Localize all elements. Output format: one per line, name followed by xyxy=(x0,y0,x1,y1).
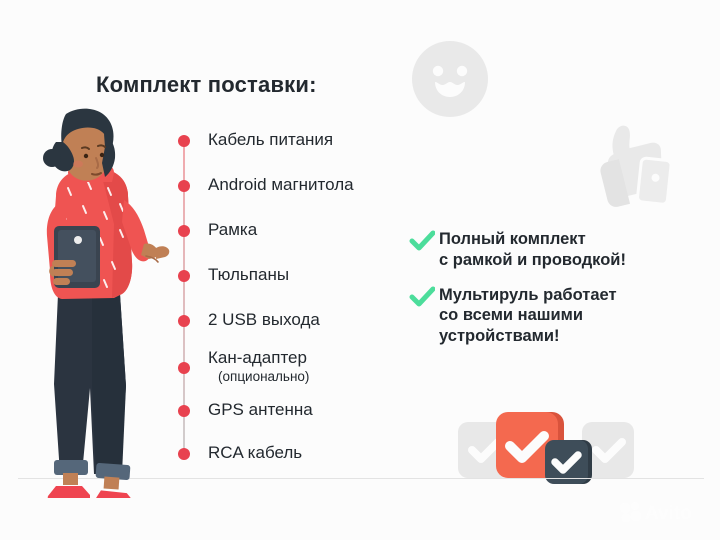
list-item-title: Кан-адаптер xyxy=(208,348,307,367)
list-item-label: Кабель питания xyxy=(208,130,333,150)
list-item-label: 2 USB выхода xyxy=(208,310,320,330)
list-item: 2 USB выхода xyxy=(178,310,320,330)
list-item: Кабель питания xyxy=(178,130,333,150)
list-item: Рамка xyxy=(178,220,257,240)
benefit-line-1: Мультируль работает xyxy=(439,286,617,304)
bullet-dot-icon xyxy=(178,405,190,417)
page-title: Комплект поставки: xyxy=(96,72,317,98)
bullet-dot-icon xyxy=(178,448,190,460)
benefit-item: Полный комплект с рамкой и проводкой! xyxy=(409,229,699,271)
woman-pointing-illustration xyxy=(8,108,178,498)
list-item-label: Кан-адаптер (опционально) xyxy=(208,348,309,384)
benefits-list: Полный комплект с рамкой и проводкой! Му… xyxy=(409,229,699,359)
bullet-dot-icon xyxy=(178,270,190,282)
smiley-face-icon xyxy=(409,38,491,120)
poster-canvas: Комплект поставки: Кабель питания Androi… xyxy=(0,0,720,540)
green-check-icon xyxy=(409,284,435,310)
list-item-label: Android магнитола xyxy=(208,175,354,195)
green-check-icon xyxy=(409,228,435,254)
avito-watermark: Avito xyxy=(617,498,709,524)
bullet-dot-icon xyxy=(178,315,190,327)
list-item-label: Тюльпаны xyxy=(208,265,289,285)
list-item: GPS антенна xyxy=(178,400,313,420)
list-item: Android магнитола xyxy=(178,175,354,195)
benefit-line-2: со всеми нашими xyxy=(439,306,583,324)
list-item-label: RCA кабель xyxy=(208,443,302,463)
avito-wordmark: Avito xyxy=(645,503,692,524)
benefit-item: Мультируль работает со всеми нашими устр… xyxy=(409,285,699,347)
bullet-dot-icon xyxy=(178,225,190,237)
list-item-label: Рамка xyxy=(208,220,257,240)
benefit-text: Мультируль работает со всеми нашими устр… xyxy=(439,285,617,347)
list-item: Кан-адаптер (опционально) xyxy=(178,348,309,384)
benefit-line-1: Полный комплект xyxy=(439,230,586,248)
list-item-label: GPS антенна xyxy=(208,400,313,420)
bullet-dot-icon xyxy=(178,180,190,192)
benefit-line-2: с рамкой и проводкой! xyxy=(439,251,626,269)
list-item: Тюльпаны xyxy=(178,265,289,285)
list-item: RCA кабель xyxy=(178,443,302,463)
bullet-dot-icon xyxy=(178,362,190,374)
list-item-sublabel: (опционально) xyxy=(218,369,309,385)
benefit-text: Полный комплект с рамкой и проводкой! xyxy=(439,229,626,271)
benefit-line-3: устройствами! xyxy=(439,327,560,345)
thumbs-up-icon xyxy=(578,112,686,212)
bullet-dot-icon xyxy=(178,135,190,147)
